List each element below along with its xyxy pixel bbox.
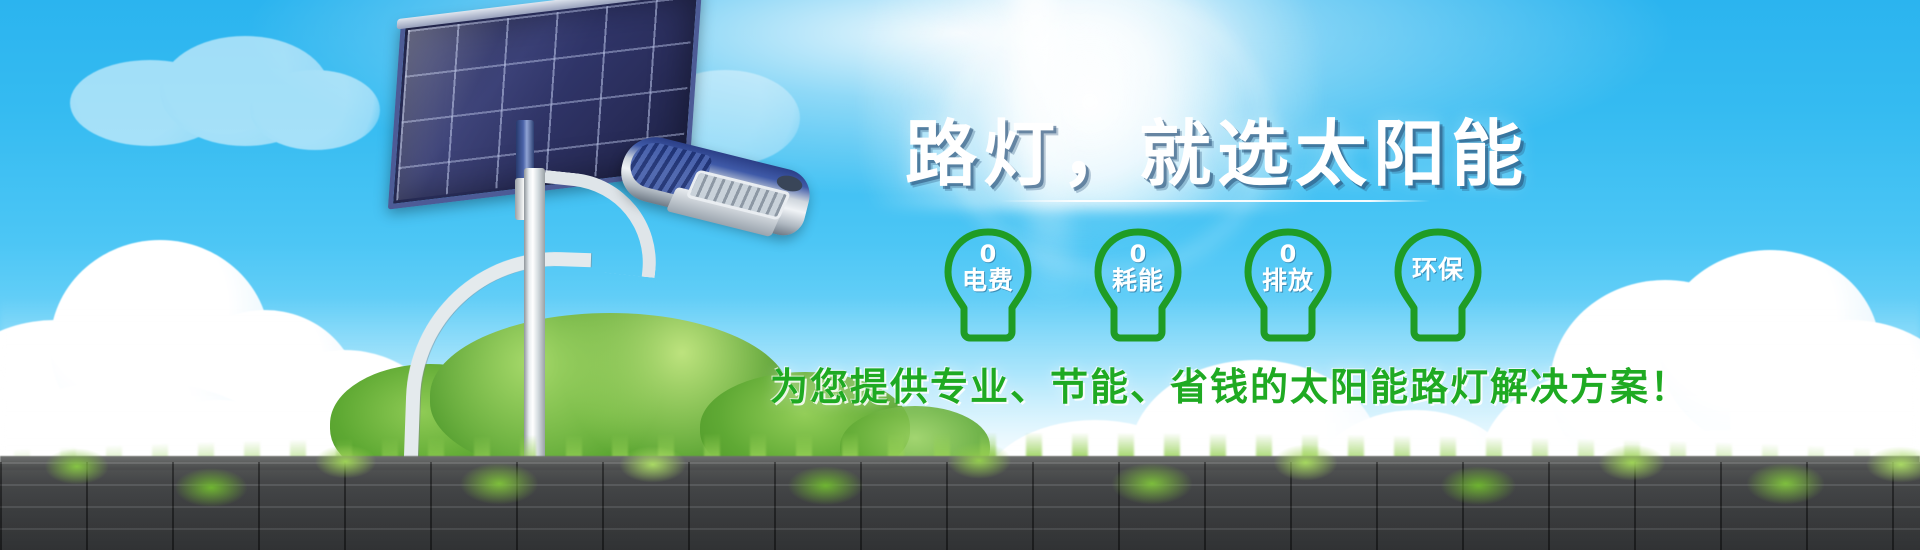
badge-zero: 0 bbox=[1240, 242, 1336, 267]
badge-text: 环保 bbox=[1390, 256, 1486, 283]
feature-badge-list: 0 电费 0 耗能 bbox=[940, 228, 1486, 344]
feature-badge-energy-use[interactable]: 0 耗能 bbox=[1090, 228, 1186, 344]
hero-banner: 路灯，就选太阳能 0 电费 bbox=[0, 0, 1920, 550]
badge-text: 0 电费 bbox=[940, 242, 1036, 294]
badge-zero: 0 bbox=[1090, 242, 1186, 267]
banner-tagline: 为您提供专业、节能、省钱的太阳能路灯解决方案！ bbox=[770, 356, 1690, 411]
feature-badge-eco-friendly[interactable]: 环保 bbox=[1390, 228, 1486, 344]
page-title: 路灯，就选太阳能 bbox=[905, 95, 1529, 200]
feature-badge-electricity-cost[interactable]: 0 电费 bbox=[940, 228, 1036, 344]
title-divider bbox=[1000, 200, 1430, 202]
badge-word: 耗能 bbox=[1090, 268, 1186, 294]
badge-text: 0 排放 bbox=[1240, 242, 1336, 294]
bulb-icon bbox=[1390, 228, 1486, 344]
badge-word: 电费 bbox=[940, 268, 1036, 294]
badge-zero: 0 bbox=[940, 242, 1036, 267]
badge-word: 环保 bbox=[1390, 257, 1486, 283]
badge-text: 0 耗能 bbox=[1090, 242, 1186, 294]
badge-word: 排放 bbox=[1240, 268, 1336, 294]
banner-copy: 路灯，就选太阳能 0 电费 bbox=[0, 0, 1920, 550]
feature-badge-emissions[interactable]: 0 排放 bbox=[1240, 228, 1336, 344]
